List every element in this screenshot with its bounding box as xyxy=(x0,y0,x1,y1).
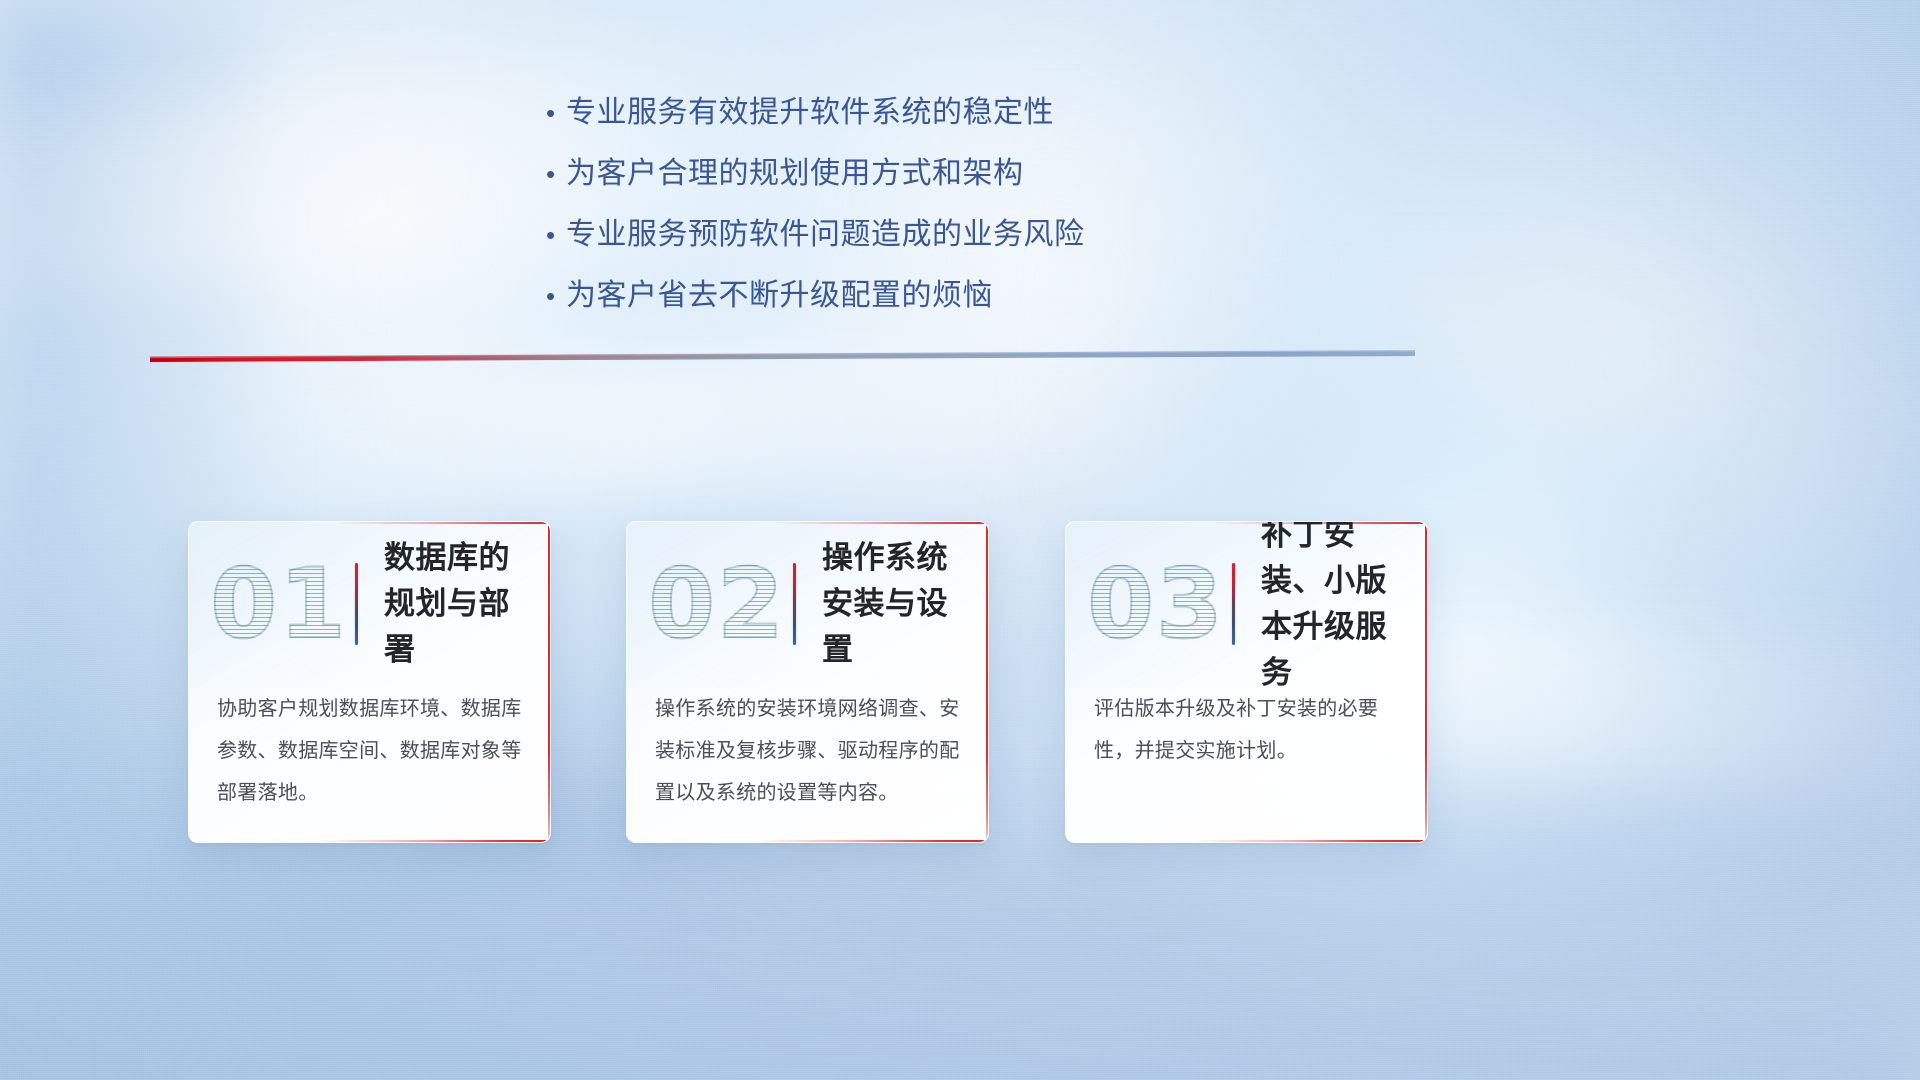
benefits-bullet-list: • 专业服务有效提升软件系统的稳定性 • 为客户合理的规划使用方式和架构 • 专… xyxy=(540,92,1360,336)
service-card-01[interactable]: 01 数据库的规划与部署 协助客户规划数据库环境、数据库参数、数据库空间、数据库… xyxy=(188,521,551,843)
slide-content: • 专业服务有效提升软件系统的稳定性 • 为客户合理的规划使用方式和架构 • 专… xyxy=(0,0,1920,1080)
card-title: 数据库的规划与部署 xyxy=(384,535,550,673)
card-number-watermark: 02 xyxy=(641,550,793,658)
card-accent-bottom xyxy=(1066,840,1427,842)
card-description: 协助客户规划数据库环境、数据库参数、数据库空间、数据库对象等部署落地。 xyxy=(217,688,524,814)
card-number-text: 03 xyxy=(1087,550,1225,658)
list-item: • 为客户合理的规划使用方式和架构 xyxy=(540,153,1360,195)
service-card-02[interactable]: 02 操作系统安装与设置 操作系统的安装环境网络调查、安装标准及复核步骤、驱动程… xyxy=(626,521,989,843)
bullet-text: 专业服务有效提升软件系统的稳定性 xyxy=(566,92,1054,134)
bullet-dot-icon: • xyxy=(540,92,566,134)
card-title-divider-bar xyxy=(1232,563,1235,645)
card-header: 02 操作系统安装与设置 xyxy=(627,544,988,664)
card-title: 操作系统安装与设置 xyxy=(822,535,988,673)
card-accent-bottom xyxy=(189,840,550,842)
bullet-dot-icon: • xyxy=(540,275,566,317)
card-number-watermark: 01 xyxy=(203,550,355,658)
bullet-text: 为客户合理的规划使用方式和架构 xyxy=(566,153,1024,195)
card-title-divider-bar xyxy=(793,563,796,645)
card-header: 03 补丁安装、小版本升级服务 xyxy=(1066,544,1427,664)
card-number-text: 01 xyxy=(210,550,348,658)
card-number-text: 02 xyxy=(648,550,786,658)
card-number-watermark: 03 xyxy=(1080,550,1232,658)
card-description: 操作系统的安装环境网络调查、安装标准及复核步骤、驱动程序的配置以及系统的设置等内… xyxy=(655,688,962,814)
card-header: 01 数据库的规划与部署 xyxy=(189,544,550,664)
service-cards: 01 数据库的规划与部署 协助客户规划数据库环境、数据库参数、数据库空间、数据库… xyxy=(0,521,1920,921)
bullet-dot-icon: • xyxy=(540,153,566,195)
list-item: • 为客户省去不断升级配置的烦恼 xyxy=(540,275,1360,317)
section-divider-wedge xyxy=(150,344,1415,366)
card-description: 评估版本升级及补丁安装的必要性，并提交实施计划。 xyxy=(1094,688,1401,772)
service-card-03[interactable]: 03 补丁安装、小版本升级服务 评估版本升级及补丁安装的必要性，并提交实施计划。 xyxy=(1065,521,1428,843)
list-item: • 专业服务预防软件问题造成的业务风险 xyxy=(540,214,1360,256)
card-accent-top xyxy=(189,522,550,524)
list-item: • 专业服务有效提升软件系统的稳定性 xyxy=(540,92,1360,134)
bullet-dot-icon: • xyxy=(540,214,566,256)
card-title: 补丁安装、小版本升级服务 xyxy=(1261,521,1427,696)
bullet-text: 专业服务预防软件问题造成的业务风险 xyxy=(566,214,1085,256)
card-title-divider-bar xyxy=(355,563,358,645)
bullet-text: 为客户省去不断升级配置的烦恼 xyxy=(566,275,993,317)
card-accent-bottom xyxy=(627,840,988,842)
card-accent-top xyxy=(627,522,988,524)
